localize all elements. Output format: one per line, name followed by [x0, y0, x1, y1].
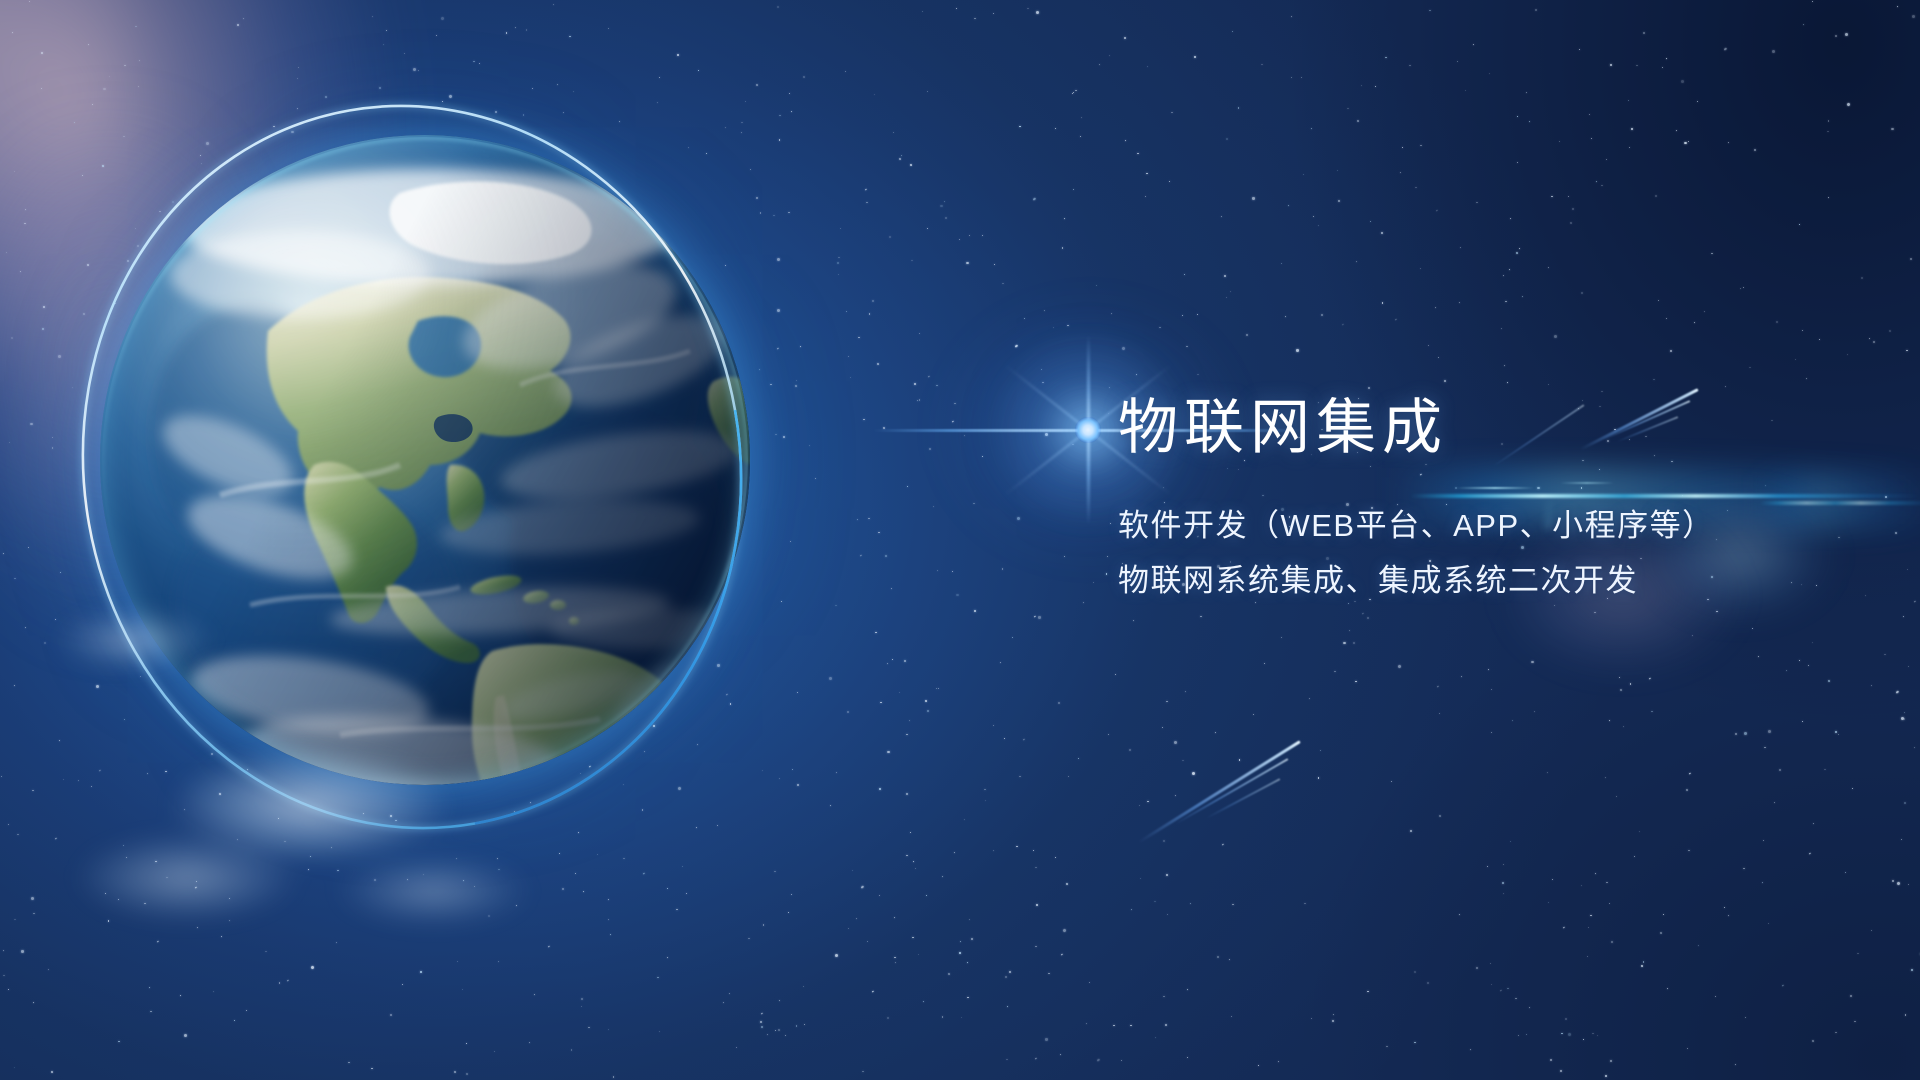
page-title: 物联网集成	[1118, 398, 1838, 458]
globe-rim-highlight	[102, 137, 748, 783]
banner-stage: 物联网集成 软件开发（WEB平台、APP、小程序等） 物联网系统集成、集成系统二…	[0, 0, 1920, 1080]
subtitle-line-2: 物联网系统集成、集成系统二次开发	[1118, 565, 1838, 596]
globe-sphere	[100, 135, 750, 785]
subtitle-line-1: 软件开发（WEB平台、APP、小程序等）	[1118, 510, 1838, 541]
banner-copy: 物联网集成 软件开发（WEB平台、APP、小程序等） 物联网系统集成、集成系统二…	[1118, 398, 1838, 596]
earth-globe	[100, 135, 750, 785]
